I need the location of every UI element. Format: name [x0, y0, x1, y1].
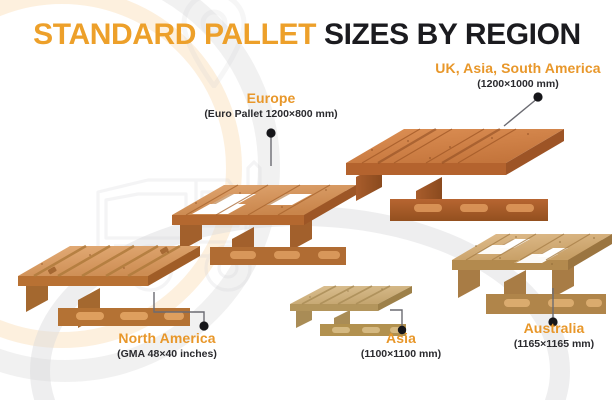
label-europe: Europe (Euro Pallet 1200×800 mm) [186, 90, 356, 120]
page-title-rest: SIZES BY REGION [324, 18, 581, 51]
label-uk-asia-south-america: UK, Asia, South America (1200×1000 mm) [418, 60, 614, 90]
label-north-america: North America (GMA 48×40 inches) [82, 330, 252, 360]
page-title-highlight: STANDARD PALLET [33, 18, 316, 51]
label-europe-title: Europe [186, 90, 356, 106]
connector-uk-asia-south-america [496, 92, 542, 128]
label-asia-spec: (1100×1100 mm) [336, 348, 466, 360]
label-asia: Asia (1100×1100 mm) [336, 330, 466, 360]
label-north-america-title: North America [82, 330, 252, 346]
label-europe-spec: (Euro Pallet 1200×800 mm) [186, 108, 356, 120]
pallet-australia [452, 208, 614, 320]
label-australia-spec: (1165×1165 mm) [492, 338, 614, 350]
connector-europe [262, 128, 280, 168]
label-uk-asia-south-america-title: UK, Asia, South America [418, 60, 614, 76]
label-australia-title: Australia [492, 320, 614, 336]
label-asia-title: Asia [336, 330, 466, 346]
label-australia: Australia (1165×1165 mm) [492, 320, 614, 350]
label-uk-asia-south-america-spec: (1200×1000 mm) [418, 78, 614, 90]
connector-north-america [150, 290, 218, 332]
label-north-america-spec: (GMA 48×40 inches) [82, 348, 252, 360]
page-title: STANDARD PALLET SIZES BY REGION [0, 18, 614, 52]
infographic-canvas: STANDARD PALLET SIZES BY REGION [0, 0, 614, 400]
